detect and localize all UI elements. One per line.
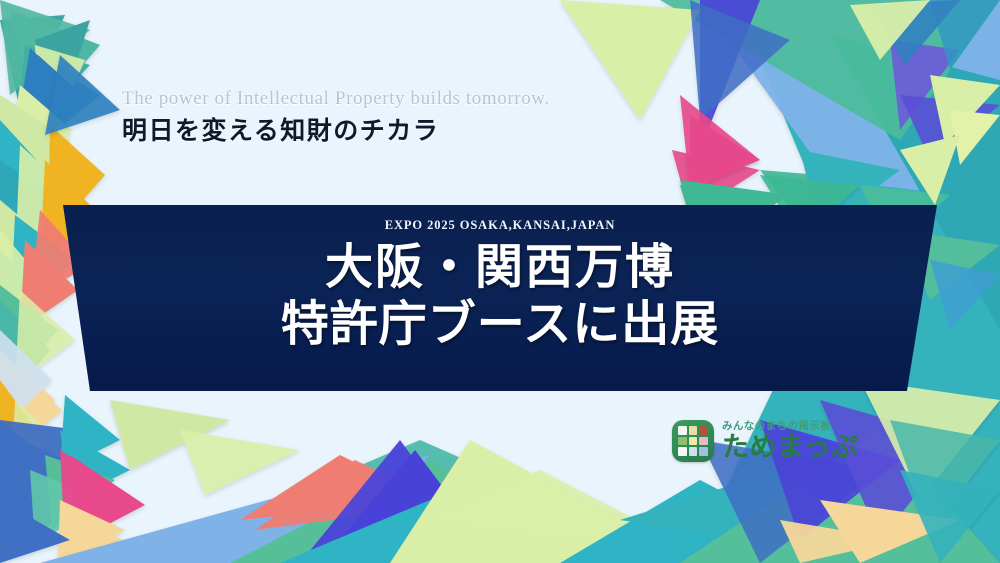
logo-tile: [699, 437, 708, 446]
logo-tile: [678, 447, 687, 456]
logo-tile: [689, 447, 698, 456]
headline-text: 大阪・関西万博 特許庁ブースに出展: [281, 239, 720, 352]
logo-tile: [689, 426, 698, 435]
headline-banner: EXPO 2025 OSAKA,KANSAI,JAPAN 大阪・関西万博 特許庁…: [0, 201, 1000, 397]
banner-content: EXPO 2025 OSAKA,KANSAI,JAPAN 大阪・関西万博 特許庁…: [0, 201, 1000, 397]
logo-tile: [678, 437, 687, 446]
logo-tile-grid: [678, 426, 708, 456]
logo-text-block: みんなのまちの掲示板 ためまっぷ: [722, 421, 858, 462]
expo-eyebrow: EXPO 2025 OSAKA,KANSAI,JAPAN: [385, 218, 616, 233]
tamemap-logo[interactable]: みんなのまちの掲示板 ためまっぷ: [672, 420, 858, 462]
logo-wordmark: ためまっぷ: [722, 434, 858, 461]
headline-line-1: 大阪・関西万博: [281, 239, 720, 296]
headline-line-2: 特許庁ブースに出展: [281, 296, 720, 353]
logo-tile: [689, 437, 698, 446]
bulletin-board-icon: [672, 420, 714, 462]
logo-sub-label: みんなのまちの掲示板: [722, 421, 858, 432]
logo-tile: [678, 426, 687, 435]
logo-tile: [699, 447, 708, 456]
logo-tile: [699, 426, 708, 435]
poster-canvas: The power of Intellectual Property build…: [0, 0, 1000, 563]
